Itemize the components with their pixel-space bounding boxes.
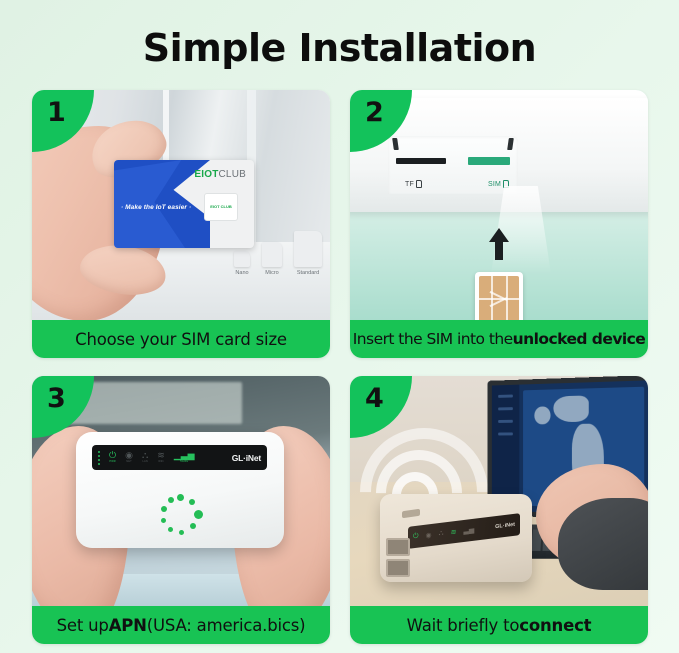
internet-icon: ◉ [426, 531, 432, 540]
router-led-panel: ⏻PWR ◉NET ⛬LAN ≋WiFi ▁▃▅5G/4G GL·iNet [92, 445, 267, 470]
signal-led-label: 5G/4G [180, 461, 188, 464]
power-led-label: PWR [109, 461, 115, 464]
step-caption-1: Choose your SIM card size [32, 320, 330, 358]
step-number-1: 1 [47, 97, 66, 128]
chip-brand-label: EIOT CLUB [210, 205, 232, 209]
signal-icon: ▃▅ [463, 526, 474, 535]
nano-sim-label: Nano [234, 270, 250, 276]
card-slot-area: TF SIM [388, 136, 518, 194]
loading-spinner-icon [157, 494, 203, 540]
lan-icon: ⛬ [439, 530, 444, 539]
step-caption-3: Set up APN (USA: america.bics) [32, 606, 330, 644]
micro-sim-shape [262, 242, 282, 267]
wifi-led-label: WiFi [158, 461, 164, 464]
sim-size-standard: Standard [294, 231, 322, 276]
router-led-panel: ⏻ ◉ ⛬ ≋ ▃▅ GL·iNet [408, 513, 520, 549]
caption-1-pre: Choose your SIM card size [75, 330, 287, 349]
sim-size-nano: Nano [234, 251, 250, 276]
sim-slot-label: SIM [488, 181, 501, 188]
steps-grid: Nano Micro Standard EIOTCLUB [32, 90, 648, 644]
arrow-shaft [495, 240, 503, 260]
slot-clip-left [392, 138, 399, 150]
step-number-3: 3 [47, 383, 66, 414]
sim-chip [475, 272, 523, 320]
router-device: ⏻ ◉ ⛬ ≋ ▃▅ GL·iNet [380, 494, 532, 582]
micro-sim-label: Micro [262, 270, 282, 276]
signal-dots-icon [98, 451, 100, 465]
lan-led-label: LAN [142, 461, 147, 464]
step-number-2: 2 [365, 97, 384, 128]
tf-card-slot [396, 158, 446, 164]
caption-4-pre: Wait briefly to [407, 616, 520, 635]
ethernet-port-2 [386, 559, 410, 577]
nano-sim-shape [234, 251, 250, 267]
step-card-4[interactable]: ⏻ ◉ ⛬ ≋ ▃▅ GL·iNet 4 Wait briefly to con… [350, 376, 648, 644]
landmass-west [535, 406, 551, 425]
step-card-3[interactable]: ⏻PWR ◉NET ⛬LAN ≋WiFi ▁▃▅5G/4G GL·iNet [32, 376, 330, 644]
slot-clip-right [507, 138, 514, 150]
page-title: Simple Installation [0, 0, 679, 88]
caption-2-bold: unlocked device [513, 330, 646, 348]
card-brand-secondary: CLUB [219, 169, 246, 180]
sim-card-slot [468, 157, 510, 165]
caption-3-post: (USA: america.bics) [147, 616, 306, 635]
card-slogan: · Make the IoT easier · [121, 204, 191, 211]
power-icon: ⏻ [413, 533, 419, 542]
tf-slot-label-group: TF [405, 180, 422, 188]
wifi-icon: ≋WiFi [157, 451, 165, 464]
power-icon: ⏻PWR [109, 451, 116, 464]
step-card-1[interactable]: Nano Micro Standard EIOTCLUB [32, 90, 330, 358]
landmass-north [553, 396, 589, 423]
sim-card: EIOTCLUB · Make the IoT easier · EIOT CL… [114, 160, 254, 248]
standard-sim-label: Standard [294, 270, 322, 276]
caption-2-pre: Insert the SIM into the [353, 330, 513, 348]
caption-4-bold: connect [519, 616, 591, 635]
step-caption-2: Insert the SIM into the unlocked device [350, 320, 648, 358]
router-brand-label: GL·iNet [495, 522, 515, 530]
standard-sim-shape [294, 231, 322, 267]
step-caption-4: Wait briefly to connect [350, 606, 648, 644]
card-brand-primary: EIOT [194, 169, 218, 180]
wifi-icon: ≋ [451, 528, 457, 537]
signal-icon: ▁▃▅5G/4G [174, 451, 195, 464]
router-brand-label: GL·iNet [232, 453, 261, 463]
dashboard-sidebar [492, 385, 520, 512]
internet-led-label: NET [126, 461, 132, 464]
lan-icon: ⛬LAN [142, 451, 148, 464]
ethernet-port-1 [386, 538, 410, 556]
tf-slot-label: TF [405, 181, 414, 188]
sleeve-illustration [558, 498, 648, 590]
card-brand: EIOTCLUB [194, 169, 246, 180]
tf-card-icon [416, 180, 422, 188]
arrow-head [489, 228, 509, 242]
router-device: ⏻PWR ◉NET ⛬LAN ≋WiFi ▁▃▅5G/4G GL·iNet [76, 432, 284, 548]
caption-3-pre: Set up [57, 616, 109, 635]
caption-3-bold: APN [109, 616, 147, 635]
sim-size-micro: Micro [262, 242, 282, 276]
punch-out-sim-chip: EIOT CLUB [204, 193, 238, 221]
sim-chip-contacts [479, 276, 519, 320]
internet-icon: ◉NET [125, 451, 133, 464]
usb-port [402, 509, 420, 519]
step-card-2[interactable]: TF SIM 2 [350, 90, 648, 358]
step-number-4: 4 [365, 383, 384, 414]
